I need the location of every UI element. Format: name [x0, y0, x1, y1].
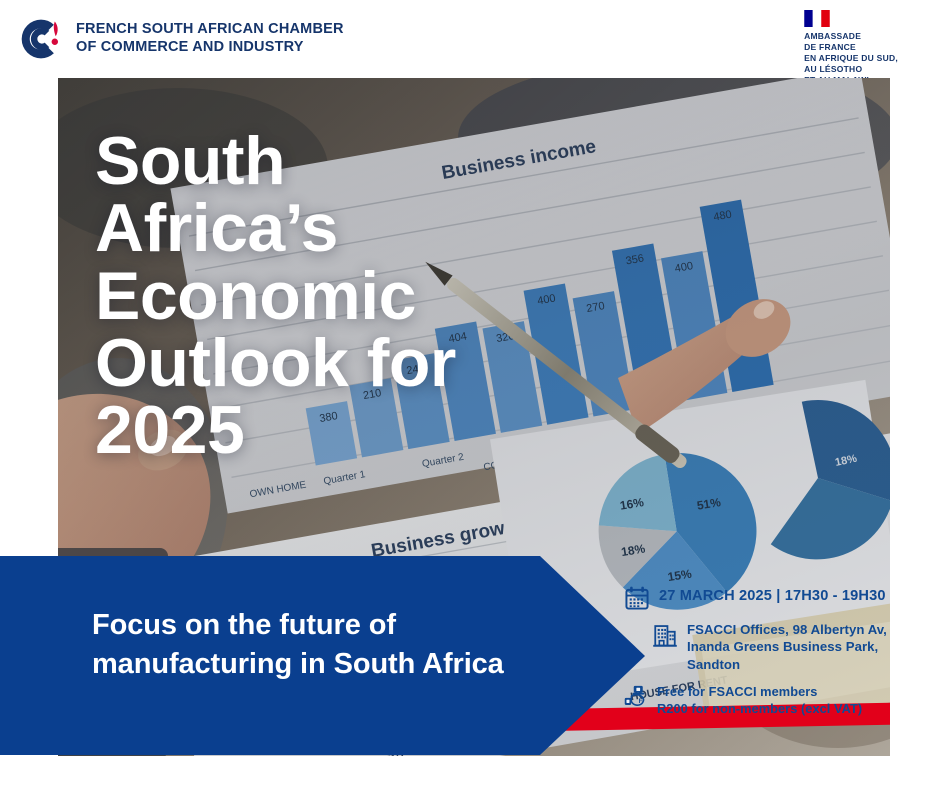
calendar-icon	[624, 585, 650, 611]
banner-subtitle: Focus on the future of manufacturing in …	[92, 606, 592, 685]
cci-logo-icon	[18, 16, 64, 62]
detail-row-venue: FSACCI Offices, 98 Albertyn Av, Inanda G…	[624, 621, 936, 673]
building-icon	[652, 622, 678, 648]
payment-hand-icon: F	[624, 684, 648, 708]
chamber-brand: FRENCH SOUTH AFRICAN CHAMBER OF COMMERCE…	[18, 16, 344, 62]
event-date-time: 27 MARCH 2025 | 17H30 - 19H30	[659, 584, 886, 606]
event-venue: FSACCI Offices, 98 Albertyn Av, Inanda G…	[687, 621, 887, 673]
event-poster: FRENCH SOUTH AFRICAN CHAMBER OF COMMERCE…	[0, 0, 940, 788]
event-price: Free for FSACCI members R200 for non-mem…	[657, 683, 862, 718]
embassy-block: AMBASSADE DE FRANCE EN AFRIQUE DU SUD, A…	[804, 10, 898, 85]
french-flag-icon	[804, 10, 830, 27]
detail-row-date: 27 MARCH 2025 | 17H30 - 19H30	[624, 584, 936, 611]
svg-text:F: F	[639, 698, 643, 705]
chamber-name: FRENCH SOUTH AFRICAN CHAMBER OF COMMERCE…	[76, 21, 344, 56]
page-title: South Africa’s Economic Outlook for 2025	[95, 128, 615, 465]
event-details: 27 MARCH 2025 | 17H30 - 19H30 FSACCI Off…	[624, 584, 936, 727]
detail-row-price: F Free for FSACCI members R200 for non-m…	[624, 683, 936, 718]
poster-header: FRENCH SOUTH AFRICAN CHAMBER OF COMMERCE…	[0, 0, 940, 78]
